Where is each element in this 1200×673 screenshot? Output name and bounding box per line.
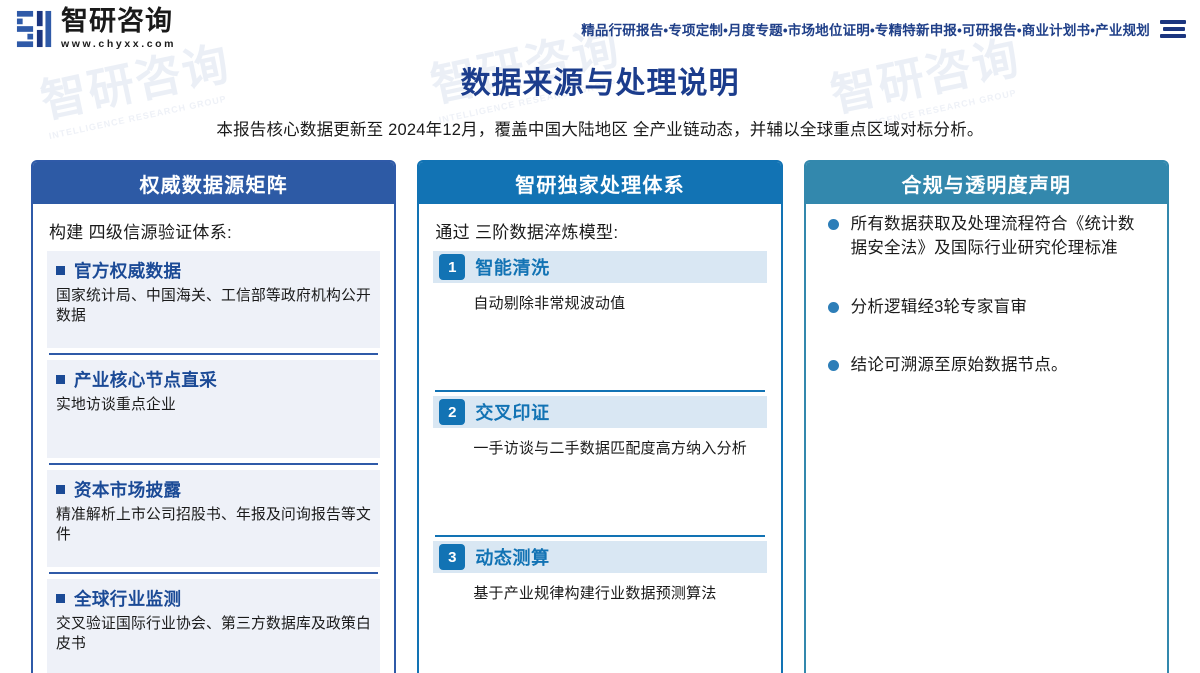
source-item-title-row: 产业核心节点直采 xyxy=(56,367,371,392)
process-step-head: 3 动态测算 xyxy=(433,541,766,573)
process-step-head: 1 智能清洗 xyxy=(433,251,766,283)
card-compliance-statement: 合规与透明度声明 所有数据获取及处理流程符合《统计数据安全法》及国际行业研究伦理… xyxy=(804,160,1169,673)
divider xyxy=(435,535,764,537)
step-number-badge: 1 xyxy=(439,254,465,280)
card-intro: 构建 四级信源验证体系: xyxy=(49,218,380,243)
process-step-desc: 一手访谈与二手数据匹配度高方纳入分析 xyxy=(473,439,766,459)
source-item-title-row: 全球行业监测 xyxy=(56,586,371,611)
square-bullet-icon xyxy=(56,375,65,384)
source-item[interactable]: 资本市场披露 精准解析上市公司招股书、年报及问询报告等文件 xyxy=(47,470,380,567)
compliance-note-text: 所有数据获取及处理流程符合《统计数据安全法》及国际行业研究伦理标准 xyxy=(851,212,1147,261)
compliance-note: 所有数据获取及处理流程符合《统计数据安全法》及国际行业研究伦理标准 xyxy=(820,212,1153,261)
source-item[interactable]: 官方权威数据 国家统计局、中国海关、工信部等政府机构公开数据 xyxy=(47,251,380,348)
page-header: 智研咨询 www.chyxx.com 精品行研报告•专项定制•月度专题•市场地位… xyxy=(0,0,1200,52)
source-item[interactable]: 全球行业监测 交叉验证国际行业协会、第三方数据库及政策白皮书 xyxy=(47,579,380,673)
card-intro: 通过 三阶数据淬炼模型: xyxy=(435,218,766,243)
card-header-title: 智研独家处理体系 xyxy=(419,162,780,204)
compliance-note-text: 结论可溯源至原始数据节点。 xyxy=(851,353,1068,377)
page-subtitle: 本报告核心数据更新至 2024年12月，覆盖中国大陆地区 全产业链动态，并辅以全… xyxy=(0,116,1200,140)
brand-logo[interactable]: 智研咨询 www.chyxx.com xyxy=(16,8,176,50)
page-root: 智研咨询 INTELLIGENCE RESEARCH GROUP 智研咨询 IN… xyxy=(0,0,1200,673)
process-step[interactable]: 3 动态测算 基于产业规律构建行业数据预测算法 xyxy=(433,541,766,673)
source-item-title-row: 官方权威数据 xyxy=(56,258,371,283)
brand-url: www.chyxx.com xyxy=(61,39,176,50)
square-bullet-icon xyxy=(56,485,65,494)
source-item-title-row: 资本市场披露 xyxy=(56,477,371,502)
source-item-title: 官方权威数据 xyxy=(74,258,181,283)
title-block: 数据来源与处理说明 本报告核心数据更新至 2024年12月，覆盖中国大陆地区 全… xyxy=(0,58,1200,140)
compliance-note: 结论可溯源至原始数据节点。 xyxy=(820,353,1153,377)
source-item-desc: 国家统计局、中国海关、工信部等政府机构公开数据 xyxy=(56,286,371,326)
square-bullet-icon xyxy=(56,594,65,603)
card-data-sources: 权威数据源矩阵 构建 四级信源验证体系: 官方权威数据 国家统计局、中国海关、工… xyxy=(31,160,396,673)
source-item[interactable]: 产业核心节点直采 实地访谈重点企业 xyxy=(47,360,380,457)
process-step[interactable]: 1 智能清洗 自动剔除非常规波动值 xyxy=(433,251,766,386)
process-step[interactable]: 2 交叉印证 一手访谈与二手数据匹配度高方纳入分析 xyxy=(433,396,766,531)
header-tagline: 精品行研报告•专项定制•月度专题•市场地位证明•专精特新申报•可研报告•商业计划… xyxy=(581,19,1150,39)
card-header-title: 权威数据源矩阵 xyxy=(33,162,394,204)
process-step-desc: 基于产业规律构建行业数据预测算法 xyxy=(473,584,766,604)
card-body: 通过 三阶数据淬炼模型: 1 智能清洗 自动剔除非常规波动值 2 交叉印证 一手… xyxy=(419,204,780,673)
divider xyxy=(49,572,378,574)
cards-row: 权威数据源矩阵 构建 四级信源验证体系: 官方权威数据 国家统计局、中国海关、工… xyxy=(0,160,1200,673)
square-bullet-icon xyxy=(56,266,65,275)
source-item-title: 资本市场披露 xyxy=(74,477,181,502)
process-step-desc: 自动剔除非常规波动值 xyxy=(473,294,766,314)
brand-name: 智研咨询 xyxy=(61,8,176,35)
brand-text: 智研咨询 www.chyxx.com xyxy=(61,8,176,50)
card-body: 构建 四级信源验证体系: 官方权威数据 国家统计局、中国海关、工信部等政府机构公… xyxy=(33,204,394,673)
source-item-title: 全球行业监测 xyxy=(74,586,181,611)
process-step-head: 2 交叉印证 xyxy=(433,396,766,428)
divider xyxy=(49,463,378,465)
page-title: 数据来源与处理说明 xyxy=(0,58,1200,102)
card-processing-system: 智研独家处理体系 通过 三阶数据淬炼模型: 1 智能清洗 自动剔除非常规波动值 … xyxy=(417,160,782,673)
card-body: 所有数据获取及处理流程符合《统计数据安全法》及国际行业研究伦理标准 分析逻辑经3… xyxy=(806,204,1167,673)
process-step-title: 动态测算 xyxy=(475,544,549,570)
header-right: 精品行研报告•专项定制•月度专题•市场地位证明•专精特新申报•可研报告•商业计划… xyxy=(581,19,1186,39)
compliance-note: 分析逻辑经3轮专家盲审 xyxy=(820,295,1153,319)
source-item-desc: 精准解析上市公司招股书、年报及问询报告等文件 xyxy=(56,505,371,545)
bullet-dot-icon xyxy=(828,302,839,313)
process-step-title: 智能清洗 xyxy=(475,254,549,280)
source-item-desc: 实地访谈重点企业 xyxy=(56,395,371,415)
chyxx-logo-icon xyxy=(16,10,54,48)
process-step-title: 交叉印证 xyxy=(475,399,549,425)
compliance-note-text: 分析逻辑经3轮专家盲审 xyxy=(851,295,1027,319)
divider xyxy=(49,353,378,355)
divider xyxy=(435,390,764,392)
source-item-desc: 交叉验证国际行业协会、第三方数据库及政策白皮书 xyxy=(56,614,371,654)
bullet-dot-icon xyxy=(828,219,839,230)
card-header-title: 合规与透明度声明 xyxy=(806,162,1167,204)
source-item-title: 产业核心节点直采 xyxy=(74,367,217,392)
bullet-dot-icon xyxy=(828,360,839,371)
step-number-badge: 3 xyxy=(439,544,465,570)
step-number-badge: 2 xyxy=(439,399,465,425)
menu-icon[interactable] xyxy=(1160,20,1186,38)
